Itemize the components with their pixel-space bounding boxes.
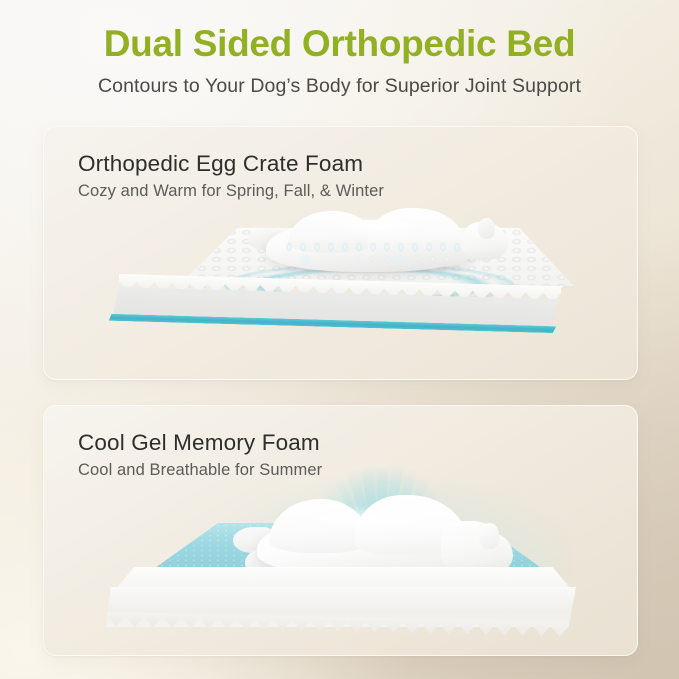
feature-card-egg-crate-foam: Orthopedic Egg Crate Foam Cozy and Warm … — [43, 126, 638, 380]
dog-highlight-sheen — [310, 216, 440, 236]
page-title: Dual Sided Orthopedic Bed — [0, 22, 679, 66]
dog-ear — [478, 218, 495, 239]
cool-gel-foam-illustration — [44, 475, 637, 655]
card-title-egg-crate-foam: Orthopedic Egg Crate Foam — [78, 151, 363, 177]
page-subtitle: Contours to Your Dog’s Body for Superior… — [0, 75, 679, 98]
foam-bumps-through-dog-lower — [350, 253, 460, 265]
dog-silhouette-sunken — [240, 206, 510, 282]
dog-highlight-sheen — [293, 507, 443, 531]
header: Dual Sided Orthopedic Bed Contours to Yo… — [0, 22, 679, 98]
gel-dot-right — [388, 254, 404, 266]
egg-crate-foam-illustration — [44, 214, 637, 374]
card-subtitle-egg-crate-foam: Cozy and Warm for Spring, Fall, & Winter — [78, 182, 384, 201]
dog-ear — [479, 523, 499, 549]
feature-card-cool-gel-memory-foam: Cool Gel Memory Foam Cool and Breathable… — [43, 405, 638, 656]
gel-dot-left — [298, 254, 314, 266]
card-title-cool-gel-foam: Cool Gel Memory Foam — [78, 430, 320, 456]
